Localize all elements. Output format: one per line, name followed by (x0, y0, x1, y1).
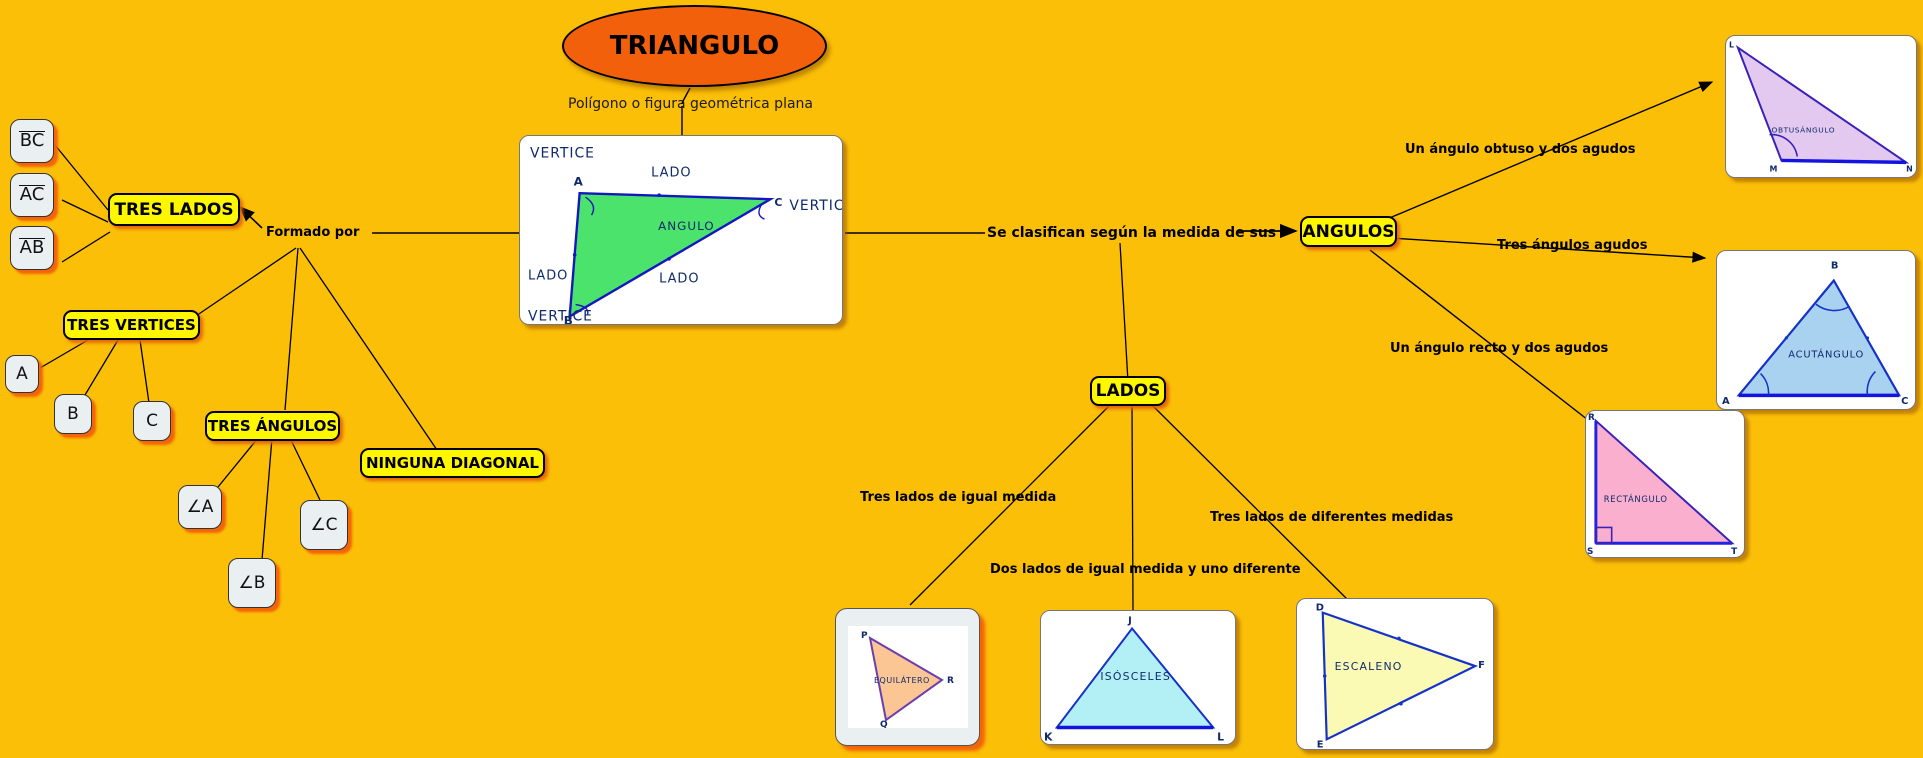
svg-text:B: B (564, 313, 573, 325)
node-angulo-b[interactable]: ∠B (228, 558, 276, 608)
node-tres-angulos[interactable]: TRES ÁNGULOS (205, 411, 340, 441)
node-tres-lados[interactable]: TRES LADOS (108, 193, 240, 226)
svg-text:T: T (1731, 547, 1737, 557)
svg-text:R: R (1588, 413, 1595, 423)
node-angulo-b-label: ∠B (239, 573, 266, 593)
concept-map-canvas: TRIANGULO Polígono o figura geométrica p… (0, 0, 1923, 758)
diagram-isosceles: ISÓSCELES J K L (1040, 610, 1236, 745)
node-vertice-b-label: B (67, 404, 79, 424)
acutangulo-svg: ACUTÁNGULO B A C (1717, 250, 1915, 410)
svg-text:ANGULO: ANGULO (658, 219, 715, 233)
edge-label-tres-iguales: Tres lados de igual medida (860, 490, 1056, 505)
edge-label-formado-por: Formado por (266, 225, 359, 240)
node-angulo-a-label: ∠A (187, 497, 214, 517)
root-node-triangulo[interactable]: TRIANGULO (562, 5, 827, 87)
svg-text:Q: Q (880, 720, 888, 728)
obtusangulo-svg: OBTUSÁNGULO L M N (1726, 35, 1916, 178)
node-vertice-c-label: C (146, 411, 158, 431)
node-lados-label: LADOS (1096, 381, 1161, 401)
svg-text:C: C (774, 196, 782, 209)
svg-text:J: J (1127, 616, 1132, 627)
svg-text:RECTÁNGULO: RECTÁNGULO (1604, 493, 1668, 504)
node-angulo-c[interactable]: ∠C (300, 500, 348, 550)
svg-text:ESCALENO: ESCALENO (1335, 660, 1403, 673)
escaleno-svg: ESCALENO D E F (1297, 598, 1493, 750)
diagram-acutangulo: ACUTÁNGULO B A C (1716, 250, 1916, 410)
svg-text:LADO: LADO (651, 165, 691, 180)
node-vertice-a[interactable]: A (5, 355, 39, 393)
node-vertice-b[interactable]: B (54, 394, 92, 434)
node-angulo-c-label: ∠C (310, 515, 337, 535)
node-lado-ab[interactable]: AB (10, 226, 54, 270)
node-tres-vertices[interactable]: TRES VERTICES (63, 310, 200, 340)
svg-text:F: F (1478, 660, 1485, 671)
svg-text:ACUTÁNGULO: ACUTÁNGULO (1788, 348, 1864, 361)
main-triangle-diagram: VERTICE LADO VERTICE LADO ANGULO LADO C … (519, 135, 843, 325)
svg-text:N: N (1906, 164, 1913, 173)
isosceles-svg: ISÓSCELES J K L (1041, 610, 1235, 745)
edge-label-se-clasifican: Se clasifican según la medida de sus (987, 225, 1276, 241)
node-lados[interactable]: LADOS (1090, 376, 1166, 406)
node-tres-lados-label: TRES LADOS (114, 200, 233, 220)
node-tres-angulos-label: TRES ÁNGULOS (208, 417, 337, 435)
node-lado-ac[interactable]: AC (10, 173, 54, 217)
svg-text:B: B (1831, 261, 1839, 272)
diagram-equilatero: EQUILÁTERO P Q R (835, 608, 980, 746)
edge-label-dos-iguales: Dos lados de igual medida y uno diferent… (990, 562, 1301, 577)
edge-label-tres-diferentes: Tres lados de diferentes medidas (1210, 510, 1453, 525)
svg-text:S: S (1587, 547, 1593, 557)
svg-text:L: L (1217, 730, 1224, 743)
root-label: TRIANGULO (610, 31, 780, 61)
node-lado-bc-label: BC (19, 131, 46, 151)
svg-text:LADO: LADO (528, 269, 568, 284)
node-angulo-a[interactable]: ∠A (178, 485, 222, 529)
node-vertice-c[interactable]: C (133, 401, 171, 441)
svg-text:L: L (1729, 41, 1734, 50)
node-lado-ac-label: AC (19, 185, 46, 205)
svg-text:C: C (1901, 396, 1908, 407)
svg-text:M: M (1770, 164, 1778, 173)
svg-text:LADO: LADO (659, 272, 699, 287)
svg-text:OBTUSÁNGULO: OBTUSÁNGULO (1772, 126, 1836, 135)
svg-text:R: R (947, 676, 954, 686)
svg-text:A: A (574, 174, 584, 188)
svg-text:P: P (861, 631, 868, 641)
svg-text:VERTICE: VERTICE (530, 145, 595, 161)
svg-text:K: K (1044, 730, 1053, 743)
edge-label-agudos: Tres ángulos agudos (1497, 238, 1647, 253)
rectangulo-svg: RECTÁNGULO R S T (1586, 410, 1744, 558)
svg-text:ISÓSCELES: ISÓSCELES (1100, 670, 1171, 683)
main-triangle-svg: VERTICE LADO VERTICE LADO ANGULO LADO C … (520, 135, 842, 325)
svg-text:VERTICE: VERTICE (528, 308, 593, 324)
node-lado-ab-label: AB (19, 238, 46, 258)
edge-label-recto: Un ángulo recto y dos agudos (1390, 341, 1608, 356)
root-subtitle: Polígono o figura geométrica plana (568, 96, 813, 112)
edge-label-obtuso: Un ángulo obtuso y dos agudos (1405, 142, 1636, 157)
equilatero-svg: EQUILÁTERO P Q R (848, 626, 968, 728)
svg-text:EQUILÁTERO: EQUILÁTERO (874, 674, 930, 685)
node-angulos[interactable]: ANGULOS (1300, 216, 1397, 247)
svg-text:A: A (1722, 396, 1730, 407)
diagram-obtusangulo: OBTUSÁNGULO L M N (1725, 35, 1917, 178)
svg-text:VERTICE: VERTICE (789, 198, 842, 214)
node-ninguna-diagonal[interactable]: NINGUNA DIAGONAL (360, 448, 545, 478)
node-vertice-a-label: A (16, 364, 28, 384)
node-angulos-label: ANGULOS (1302, 222, 1394, 242)
svg-text:E: E (1317, 739, 1324, 750)
svg-text:D: D (1316, 603, 1324, 614)
node-lado-bc[interactable]: BC (10, 119, 54, 163)
diagram-rectangulo: RECTÁNGULO R S T (1585, 410, 1745, 558)
node-ninguna-diagonal-label: NINGUNA DIAGONAL (366, 454, 539, 472)
diagram-escaleno: ESCALENO D E F (1296, 598, 1494, 750)
node-tres-vertices-label: TRES VERTICES (67, 316, 196, 334)
equilatero-inner: EQUILÁTERO P Q R (848, 626, 968, 728)
